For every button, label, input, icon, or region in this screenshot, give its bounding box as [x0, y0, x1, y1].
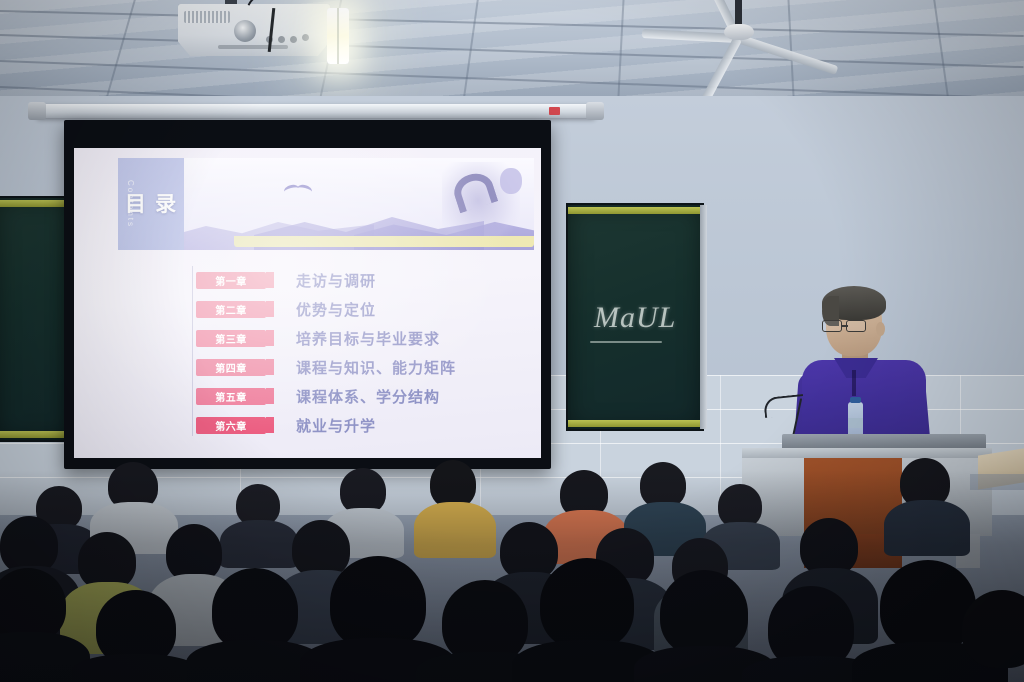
fluorescent-light: [327, 8, 349, 64]
audience-head: [0, 568, 66, 642]
toc-row[interactable]: 第六章 就业与升学: [196, 411, 526, 440]
audience: [0, 440, 1024, 682]
right-chalkboard-frame: [700, 205, 707, 429]
roller-end-right: [586, 102, 604, 120]
chalkboard-underline: [590, 341, 662, 343]
chapter-title: 课程体系、学分结构: [296, 386, 440, 407]
toc-row[interactable]: 第一章 走访与调研: [196, 266, 526, 295]
eyeglasses-icon: [846, 320, 866, 332]
toc-row[interactable]: 第五章 课程体系、学分结构: [196, 382, 526, 411]
chalkboard-writing: MaUL: [594, 301, 676, 335]
presenter: [800, 290, 928, 458]
presenter-ear: [876, 322, 885, 336]
bottle-label: [848, 418, 863, 428]
fan-downrod: [735, 0, 742, 26]
screen-brand-logo: [549, 107, 560, 115]
hiker-head: [500, 168, 522, 194]
chapter-chip: 第三章: [196, 330, 266, 347]
audience-head: [540, 558, 634, 650]
toc-row[interactable]: 第二章 优势与定位: [196, 295, 526, 324]
chapter-chip: 第四章: [196, 359, 266, 376]
toc-row[interactable]: 第四章 课程与知识、能力矩阵: [196, 353, 526, 382]
lecture-hall-scene: MaUL Contents 目 录: [0, 0, 1024, 682]
audience-head: [330, 556, 426, 650]
ceiling: [0, 0, 1024, 96]
chapter-title: 就业与升学: [296, 415, 376, 436]
chapter-chip: 第六章: [196, 417, 266, 434]
fan-motor-hub: [724, 24, 754, 40]
slide-accent-bar: [234, 236, 534, 247]
right-chalkboard-trim-top: [568, 207, 702, 214]
eagle-icon: [284, 180, 314, 194]
chapter-title: 优势与定位: [296, 299, 376, 320]
screen-roller-bar[interactable]: [36, 104, 596, 118]
projector-label: [218, 45, 288, 49]
toc-row[interactable]: 第三章 培养目标与毕业要求: [196, 324, 526, 353]
bottle-cap: [850, 397, 861, 403]
chapter-title: 培养目标与毕业要求: [296, 328, 440, 349]
chapter-chip: 第二章: [196, 301, 266, 318]
audience-head: [430, 460, 476, 508]
audience-body: [884, 500, 970, 556]
projector-vent: [184, 11, 230, 23]
chapter-title: 走访与调研: [296, 270, 376, 291]
right-chalkboard-trim-bottom: [568, 420, 702, 427]
slide-title-panel: Contents 目 录: [118, 158, 184, 250]
projector-lens: [234, 20, 256, 42]
slide-toc-list: 第一章 走访与调研 第二章 优势与定位 第三章 培养目标与毕业要求 第四章 课程…: [196, 266, 526, 440]
chapter-chip: 第五章: [196, 388, 266, 405]
eyeglasses-icon: [822, 320, 842, 332]
toc-divider: [192, 266, 193, 436]
eyeglasses-bridge: [842, 325, 848, 327]
roller-end-left: [28, 102, 46, 120]
projection-screen[interactable]: Contents 目 录 第一章 走访与调研: [64, 120, 551, 469]
light-divider: [337, 8, 339, 64]
audience-body: [72, 654, 200, 682]
slide-surface: Contents 目 录 第一章 走访与调研: [74, 148, 541, 458]
right-chalkboard: MaUL: [566, 203, 704, 431]
audience-head: [660, 570, 748, 656]
chapter-chip: 第一章: [196, 272, 266, 289]
chapter-title: 课程与知识、能力矩阵: [296, 357, 456, 378]
audience-body: [220, 520, 298, 568]
presenter-placket: [852, 370, 856, 396]
slide-title-en: Contents: [126, 180, 135, 228]
audience-body: [414, 502, 496, 558]
